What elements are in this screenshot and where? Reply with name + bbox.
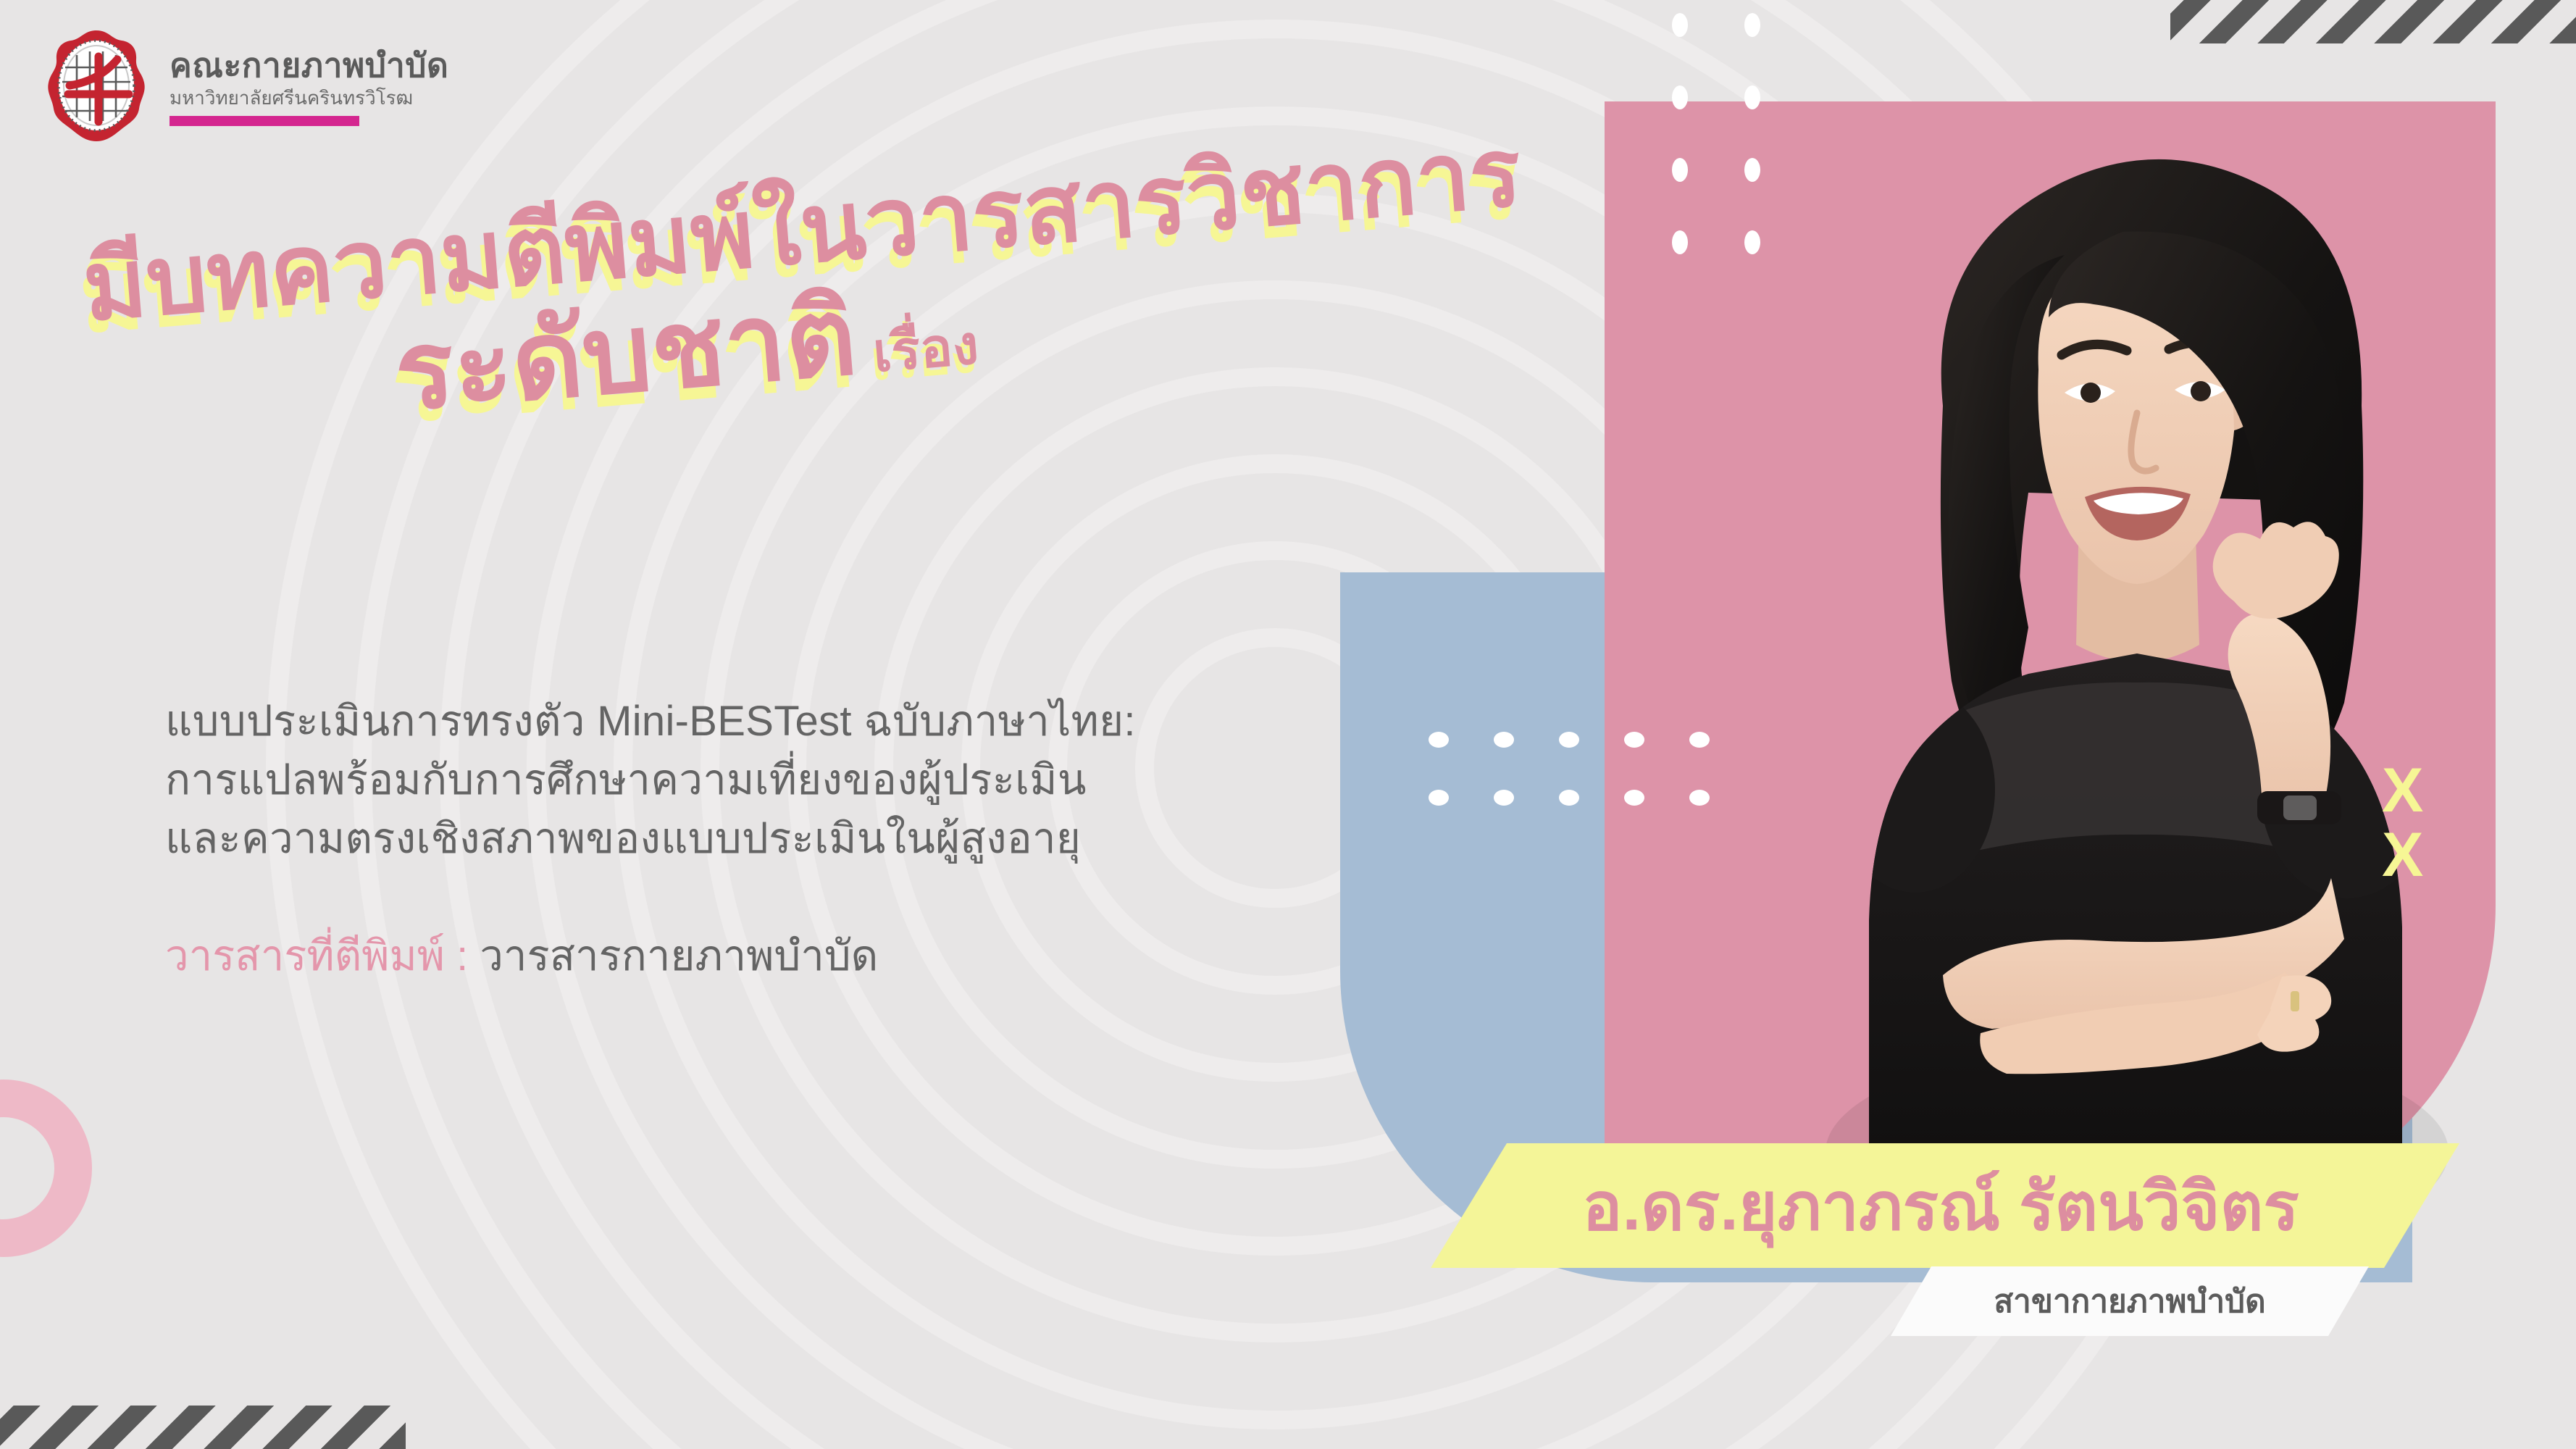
faculty-logo: คณะกายภาพบำบัด มหาวิทยาลัยศรีนครินทรวิโร… [42,28,448,143]
journal-label: วารสารที่ตีพิมพ์ : [165,932,468,980]
person-department-banner: สาขากายภาพบำบัด [1891,1266,2369,1336]
article-title-line-3: และความตรงเชิงสภาพของแบบประเมินในผู้สูงอ… [165,809,1136,868]
x-mark-icon: X [2382,829,2423,882]
dot-grid-top [1672,13,1776,262]
article-title: แบบประเมินการทรงตัว Mini-BESTest ฉบับภาษ… [165,692,1136,869]
journal-line: วารสารที่ตีพิมพ์ : วารสารกายภาพบำบัด [165,922,878,989]
diagonal-stripes-bottom-left [0,1406,406,1449]
pink-ring-decoration [0,1080,92,1257]
diagonal-stripes-top-right [2170,0,2576,43]
x-marks-decoration: X X [2382,764,2423,882]
x-mark-icon: X [2382,764,2423,817]
person-name-banner: อ.ดร.ยุภาภรณ์ รัตนวิจิตร [1431,1143,2459,1268]
page-title: มีบทความตีพิมพ์ในวารสารวิชาการ ระดับชาติ… [80,120,1584,454]
university-name: มหาวิทยาลัยศรีนครินทรวิโรฒ [170,87,448,109]
university-seal-icon [42,28,151,143]
faculty-name: คณะกายภาพบำบัด [170,48,448,84]
article-title-line-1: แบบประเมินการทรงตัว Mini-BESTest ฉบับภาษ… [165,692,1136,751]
person-department: สาขากายภาพบำบัด [1994,1276,2265,1327]
dot-grid-middle [1429,732,1711,811]
logo-accent-rule [170,116,359,126]
person-name: อ.ดร.ยุภาภรณ์ รัตนวิจิตร [1582,1153,2299,1259]
portrait-photo [1688,65,2470,1224]
headline-line-2-suffix: เรื่อง [871,314,981,383]
journal-value: วารสารกายภาพบำบัด [480,932,878,980]
poster-canvas: X X คณะกาย [0,0,2576,1449]
article-title-line-2: การแปลพร้อมกับการศึกษาความเที่ยงของผู้ปร… [165,751,1136,809]
